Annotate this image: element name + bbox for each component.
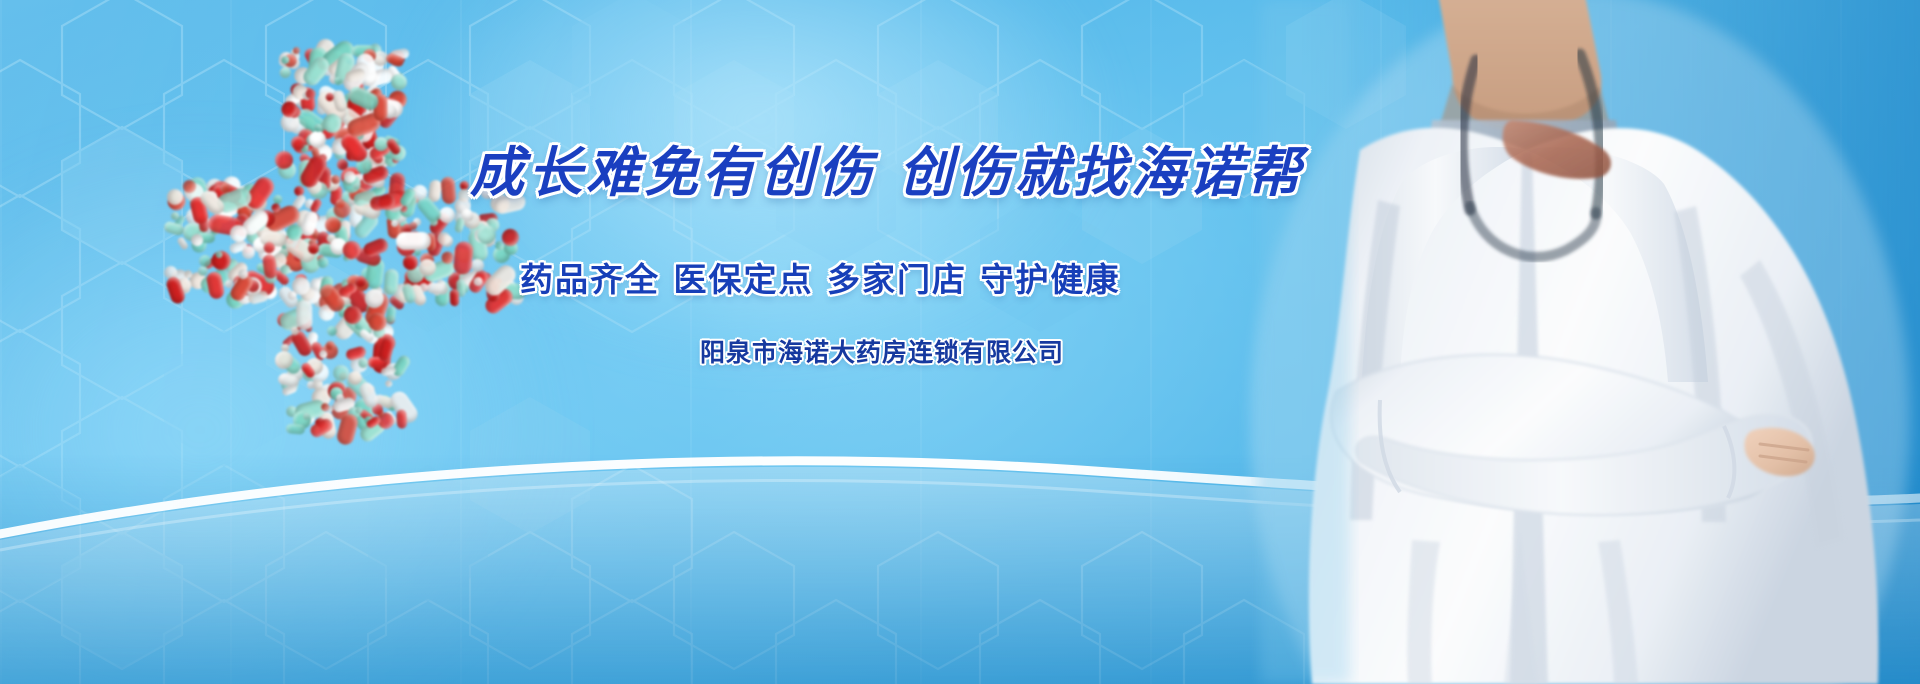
pill-cross-graphic <box>165 45 515 435</box>
doctor-photo <box>1060 0 1920 684</box>
pharmacy-banner: 成长难免有创伤 创伤就找海诺帮 药品齐全 医保定点 多家门店 守护健康 阳泉市海… <box>0 0 1920 684</box>
